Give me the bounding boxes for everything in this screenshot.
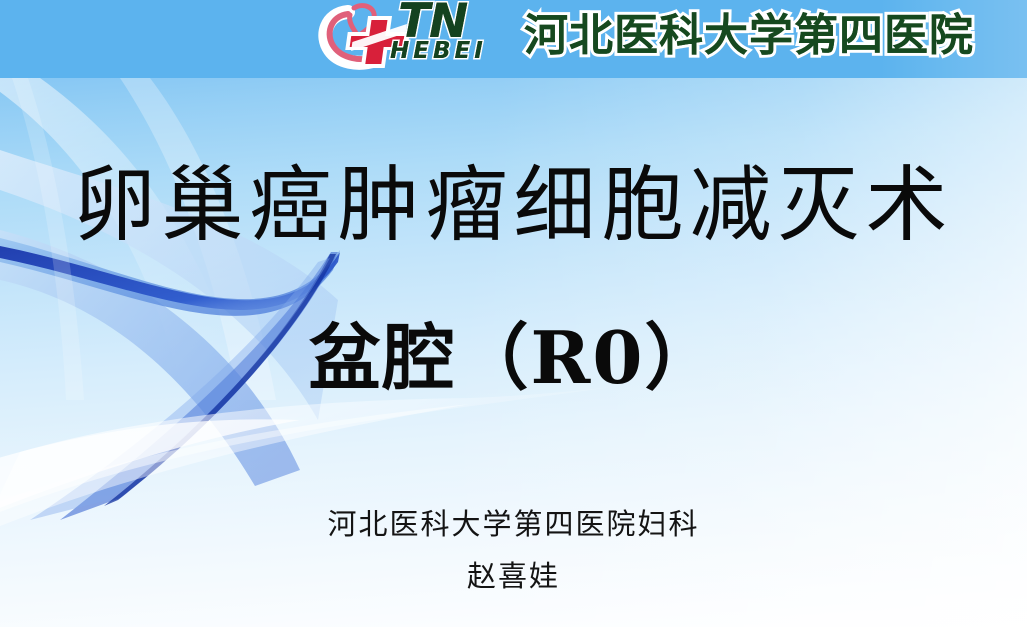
slide-title-line2: 盆腔（R0） [0, 308, 1027, 408]
hospital-name-text: 河北医科大学第四医院 [524, 8, 974, 64]
slide-title-line1: 卵巢癌肿瘤细胞减灭术 [0, 158, 1027, 254]
presenter-name: 赵喜娃 [0, 556, 1027, 596]
affiliation-text: 河北医科大学第四医院妇科 [0, 504, 1027, 544]
hospital-banner: TN TN HEBEI HEBEI 河北医科大学第四医院 河北医科大学第四医院 [0, 0, 1027, 78]
presentation-slide: TN TN HEBEI HEBEI 河北医科大学第四医院 河北医科大学第四医院 … [0, 0, 1027, 627]
logo-brand-sub: HEBEI [390, 40, 487, 63]
